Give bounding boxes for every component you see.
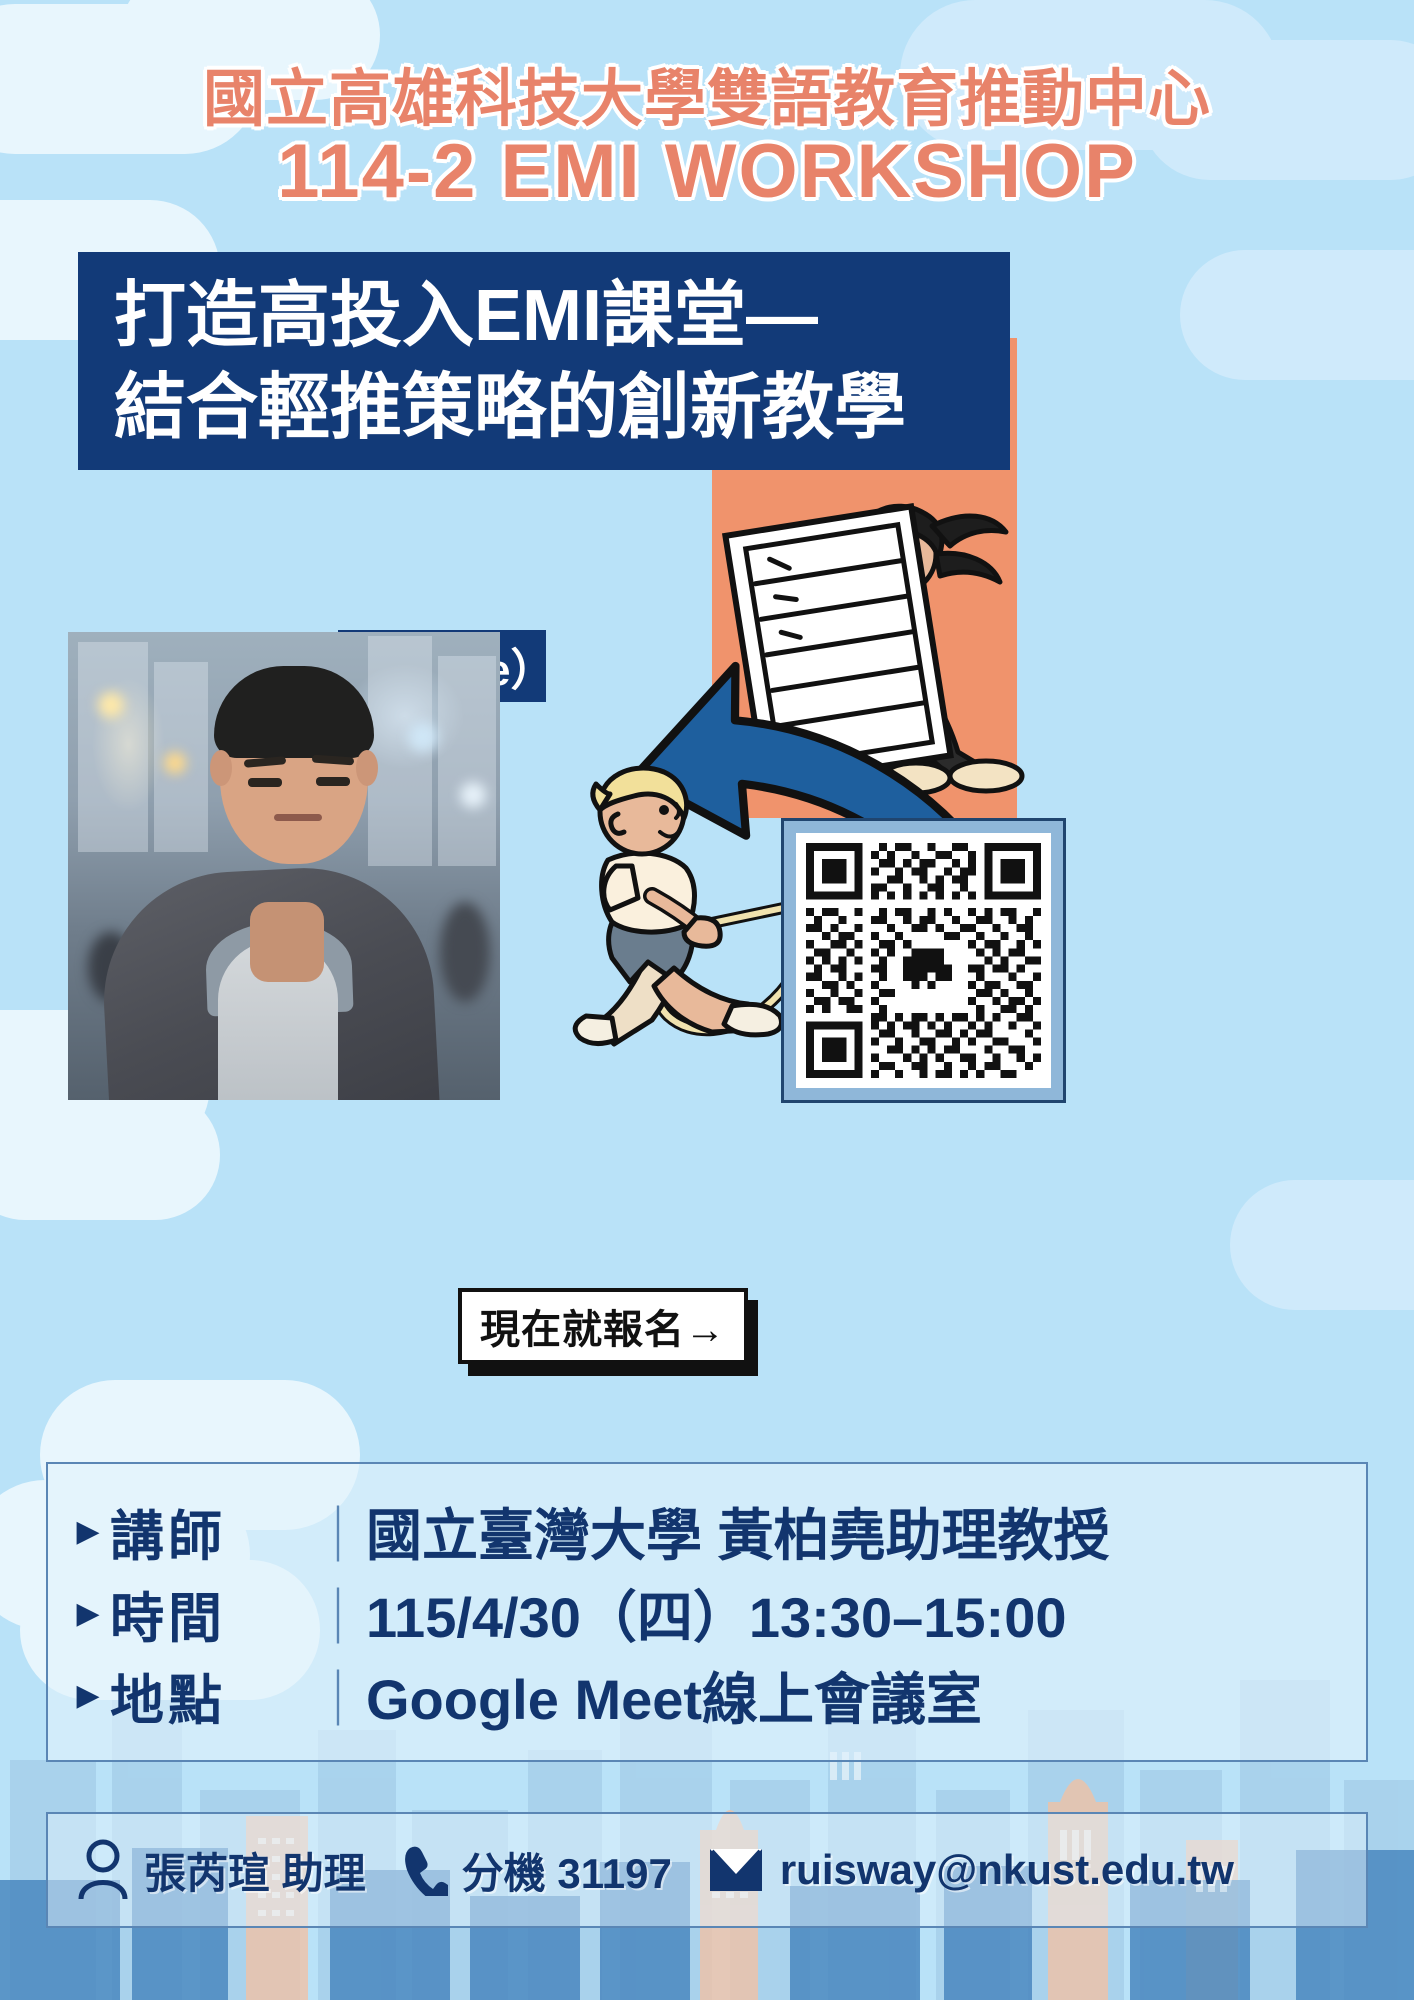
workshop-title-line-1: 打造高投入EMI課堂— xyxy=(114,270,982,362)
detail-separator: ｜ xyxy=(310,1573,366,1654)
register-now-button[interactable]: 現在就報名→ xyxy=(458,1288,748,1364)
event-details-panel: ▶ 講師 ｜ 國立臺灣大學 黃柏堯助理教授 ▶ 時間 ｜ 115/4/30（四）… xyxy=(46,1462,1368,1762)
detail-row-time: ▶ 時間 ｜ 115/4/30（四）13:30–15:00 xyxy=(66,1572,1366,1654)
contact-footer-panel: 張芮瑄 助理 分機 31197 ruisway@nkust.edu.tw xyxy=(46,1812,1368,1928)
contact-email[interactable]: ruisway@nkust.edu.tw xyxy=(706,1843,1234,1897)
qr-code[interactable] xyxy=(781,818,1066,1103)
page-title-workshop: 114-2 EMI WORKSHOP xyxy=(0,128,1414,215)
contact-phone: 分機 31197 xyxy=(400,1840,672,1901)
bullet-triangle-icon: ▶ xyxy=(66,1514,110,1549)
detail-separator: ｜ xyxy=(310,1491,366,1572)
envelope-icon xyxy=(706,1843,766,1897)
phone-icon xyxy=(400,1844,448,1896)
email-address: ruisway@nkust.edu.tw xyxy=(780,1846,1234,1894)
register-now-label: 現在就報名→ xyxy=(480,1297,726,1355)
detail-value-location: Google Meet線上會議室 xyxy=(366,1655,982,1736)
detail-label-time: 時間 xyxy=(110,1574,310,1653)
workshop-title-line-2: 結合輕推策略的創新教學 xyxy=(114,362,982,454)
bullet-triangle-icon: ▶ xyxy=(66,1678,110,1713)
workshop-title-block: 打造高投入EMI課堂— 結合輕推策略的創新教學 xyxy=(78,252,1010,470)
detail-separator: ｜ xyxy=(310,1655,366,1736)
phone-extension: 分機 31197 xyxy=(462,1840,672,1901)
detail-row-location: ▶ 地點 ｜ Google Meet線上會議室 xyxy=(66,1654,1366,1736)
detail-label-location: 地點 xyxy=(110,1656,310,1735)
speaker-portrait-photo xyxy=(68,632,500,1100)
poster-root: 國立高雄科技大學雙語教育推動中心 114-2 EMI WORKSHOP 打造高投… xyxy=(0,0,1414,2000)
bullet-triangle-icon: ▶ xyxy=(66,1596,110,1631)
detail-row-speaker: ▶ 講師 ｜ 國立臺灣大學 黃柏堯助理教授 xyxy=(66,1490,1366,1572)
detail-label-speaker: 講師 xyxy=(110,1492,310,1571)
person-icon xyxy=(76,1839,130,1901)
page-title-organization: 國立高雄科技大學雙語教育推動中心 xyxy=(0,48,1414,138)
contact-name: 張芮瑄 助理 xyxy=(144,1840,366,1901)
boy-pulling-rope-illustration xyxy=(556,748,816,1058)
detail-value-time: 115/4/30（四）13:30–15:00 xyxy=(366,1573,1067,1654)
detail-value-speaker: 國立臺灣大學 黃柏堯助理教授 xyxy=(366,1491,1110,1572)
contact-person: 張芮瑄 助理 xyxy=(76,1839,366,1901)
